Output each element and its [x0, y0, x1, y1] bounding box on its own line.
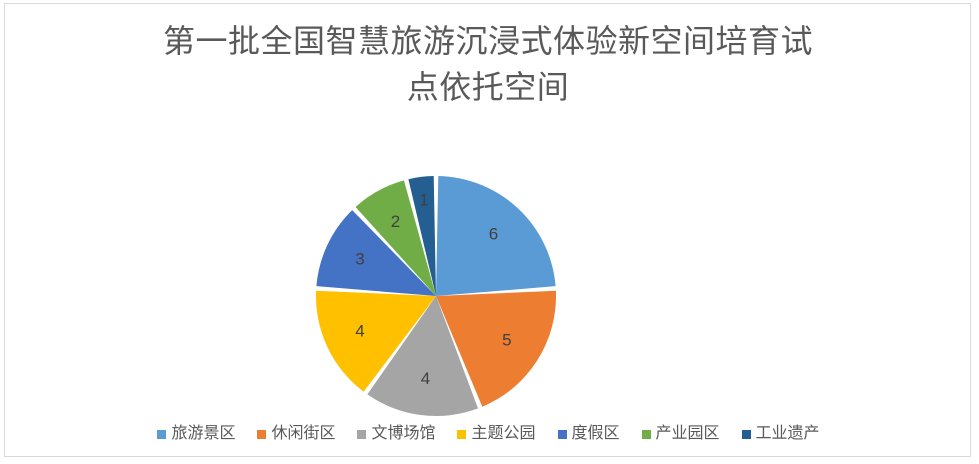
pie-slice-label: 1: [419, 190, 428, 209]
plot-area: 6544321: [5, 164, 972, 418]
chart-title: 第一批全国智慧旅游沉浸式体验新空间培育试 点依托空间: [65, 18, 911, 110]
chart-legend: 旅游景区休闲街区文博场馆主题公园度假区产业园区工业遗产: [5, 425, 972, 443]
legend-swatch-icon: [457, 430, 466, 439]
legend-swatch-icon: [642, 430, 651, 439]
pie-chart[interactable]: 6544321: [311, 172, 561, 420]
legend-item-label: 旅游景区: [171, 425, 235, 443]
pie-slice-label: 3: [355, 250, 364, 269]
legend-item-label: 度假区: [572, 425, 620, 443]
pie-slice-label: 6: [489, 224, 498, 243]
legend-item[interactable]: 度假区: [558, 425, 620, 443]
pie-slice-label: 2: [391, 212, 400, 231]
legend-item[interactable]: 工业遗产: [742, 425, 820, 443]
legend-item[interactable]: 文博场馆: [357, 425, 435, 443]
chart-title-line-2: 点依托空间: [407, 69, 570, 105]
pie-slice-label: 4: [421, 369, 430, 388]
pie-slice-label: 4: [355, 321, 364, 340]
chart-title-line-1: 第一批全国智慧旅游沉浸式体验新空间培育试: [163, 23, 813, 59]
legend-swatch-icon: [357, 430, 366, 439]
pie-slices: [316, 176, 556, 416]
legend-item[interactable]: 旅游景区: [157, 425, 235, 443]
legend-swatch-icon: [257, 430, 266, 439]
legend-swatch-icon: [742, 430, 751, 439]
legend-swatch-icon: [157, 430, 166, 439]
legend-item-label: 主题公园: [471, 425, 535, 443]
legend-item[interactable]: 主题公园: [457, 425, 535, 443]
pie-slice-label: 5: [502, 330, 511, 349]
legend-item-label: 工业遗产: [756, 425, 820, 443]
legend-item[interactable]: 休闲街区: [257, 425, 335, 443]
legend-swatch-icon: [558, 430, 567, 439]
legend-item-label: 休闲街区: [271, 425, 335, 443]
legend-item-label: 产业园区: [656, 425, 720, 443]
legend-item-label: 文博场馆: [371, 425, 435, 443]
legend-item[interactable]: 产业园区: [642, 425, 720, 443]
chart-container: 第一批全国智慧旅游沉浸式体验新空间培育试 点依托空间 6544321 旅游景区休…: [4, 3, 971, 457]
